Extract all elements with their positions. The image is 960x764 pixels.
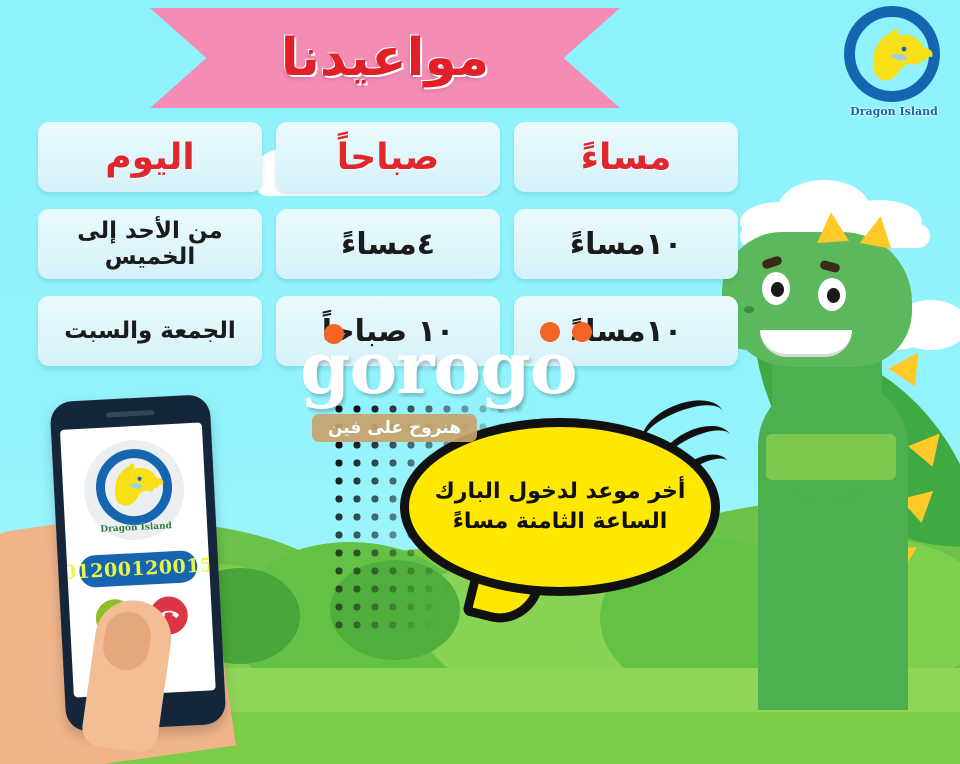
- watermark-dot: [324, 324, 344, 344]
- watermark-text: gorogo: [300, 336, 650, 401]
- phone-speaker: [106, 410, 154, 418]
- watermark: gorogo هنروح على فين: [300, 336, 650, 401]
- row-0-morning: ٤مساءً: [276, 209, 500, 279]
- row-1-day: الجمعة والسبت: [38, 296, 262, 366]
- row-0-day: من الأحد إلى الخميس: [38, 209, 262, 279]
- page-title: مواعيدنا: [150, 8, 620, 108]
- dragon-icon: [838, 4, 950, 120]
- notice-line-1: أخر موعد لدخول البارك: [435, 477, 686, 507]
- header-morning: صباحاً: [276, 122, 500, 192]
- watermark-tagline: هنروح على فين: [312, 414, 477, 442]
- watermark-dot: [572, 322, 592, 342]
- phone-brand-logo: Dragon Island: [82, 438, 187, 543]
- brand-name: Dragon Island: [838, 105, 950, 118]
- tail-cover: [460, 530, 556, 566]
- phone-number: 01200120015: [79, 550, 199, 588]
- speech-bubble: أخر موعد لدخول البارك الساعة الثامنة مسا…: [400, 418, 720, 596]
- header-evening: مساءً: [514, 122, 738, 192]
- watermark-dot: [540, 322, 560, 342]
- brand-logo: Dragon Island: [838, 4, 950, 120]
- table-header-row: مساءً صباحاً اليوم: [38, 122, 738, 192]
- table-row: ١٠مساءً ٤مساءً من الأحد إلى الخميس: [38, 209, 738, 279]
- poster: مواعيدنا Dragon Island: [0, 0, 960, 764]
- header-day: اليوم: [38, 122, 262, 192]
- row-0-evening: ١٠مساءً: [514, 209, 738, 279]
